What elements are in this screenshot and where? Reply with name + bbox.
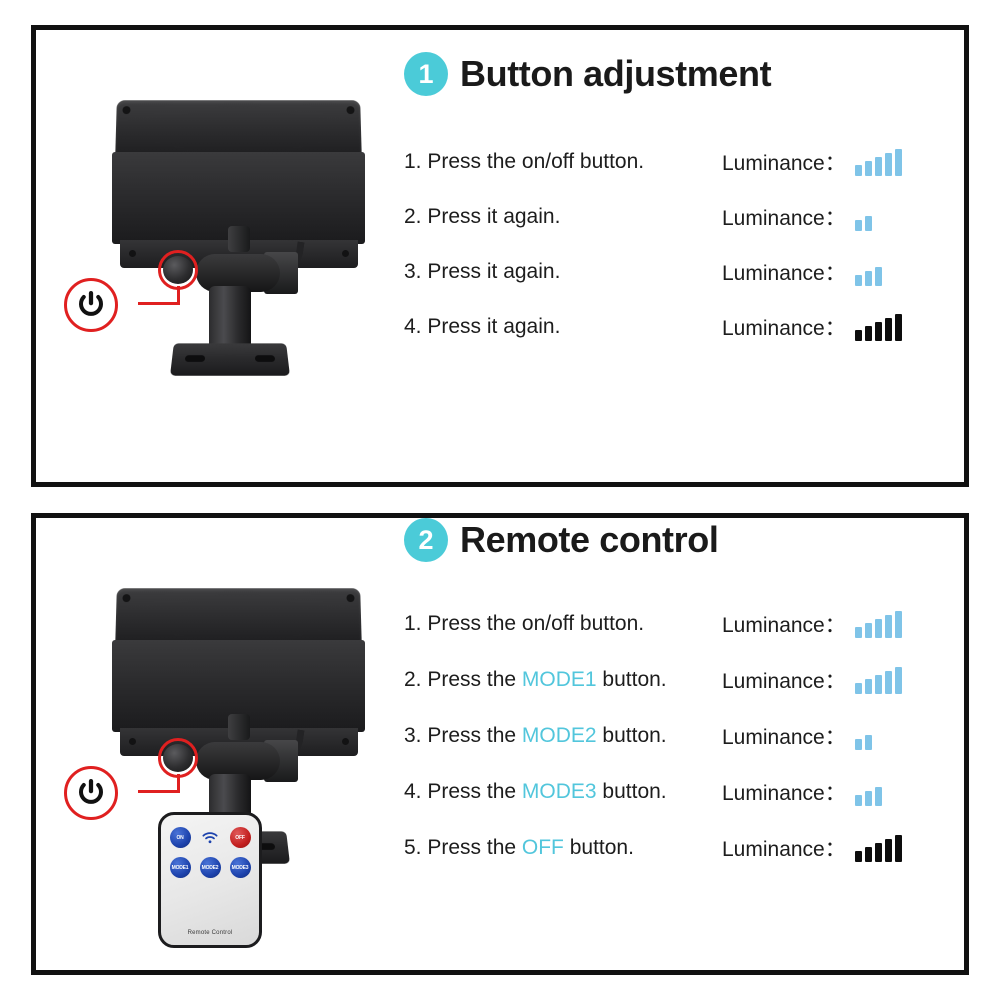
luminance-bar (885, 153, 892, 176)
mode-keyword: MODE1 (522, 668, 597, 691)
luminance-bar (855, 683, 862, 694)
section-2-title: Remote control (460, 519, 718, 561)
step-prefix: 3. Press the (404, 724, 522, 747)
section-1-badge: 1 (404, 52, 448, 96)
step-row: 4. Press it again.Luminance： (404, 299, 956, 354)
luminance-bar (875, 843, 882, 862)
luminance-label: Luminance： (722, 257, 846, 287)
step-text: 3. Press it again. (404, 260, 722, 284)
luminance-bar (875, 157, 882, 176)
section-1-heading: 1 Button adjustment (404, 52, 956, 96)
luminance-bar (895, 667, 902, 694)
mode-keyword: MODE3 (522, 780, 597, 803)
step-text: 1. Press the on/off button. (404, 150, 722, 174)
step-suffix: button. (597, 668, 667, 691)
mount-slot-right (255, 355, 275, 362)
luminance-bar (895, 149, 902, 176)
luminance-bars (855, 834, 902, 862)
power-icon (76, 778, 106, 808)
luminance-bar (895, 314, 902, 341)
luminance-bar (885, 615, 892, 638)
step-text: 5. Press the OFF button. (404, 836, 722, 860)
remote-button-on[interactable]: ON (170, 827, 191, 848)
luminance-bar (875, 787, 882, 806)
luminance-label: Luminance： (722, 147, 846, 177)
luminance-label: Luminance： (722, 833, 846, 863)
mounting-baseplate (170, 343, 290, 375)
mount-slot-left (185, 355, 205, 362)
section-2-heading: 2Remote control (404, 518, 956, 562)
luminance-bars (855, 722, 872, 750)
section-2-badge: 2 (404, 518, 448, 562)
luminance-bars (855, 258, 882, 286)
step-row: 1. Press the on/off button.Luminance： (404, 134, 956, 189)
section-1-steps: 1. Press the on/off button.Luminance：2. … (404, 134, 956, 354)
power-button-highlight-ring (158, 250, 198, 290)
section-1-title: Button adjustment (460, 53, 771, 95)
step-prefix: 4. Press the (404, 780, 522, 803)
luminance-bar (885, 671, 892, 694)
luminance-bar (855, 739, 862, 750)
luminance-bar (875, 619, 882, 638)
step-text: 2. Press the MODE1 button. (404, 668, 722, 692)
callout-leader-horizontal (138, 302, 180, 305)
step-text: 1. Press the on/off button. (404, 612, 722, 636)
luminance-bar (865, 679, 872, 694)
power-icon-callout (64, 278, 118, 332)
luminance-label: Luminance： (722, 609, 846, 639)
luminance-bar (855, 627, 862, 638)
luminance-bar (855, 795, 862, 806)
remote-wifi-icon[interactable] (200, 827, 221, 848)
step-row: 1. Press the on/off button.Luminance： (404, 596, 956, 652)
callout-leader-horizontal-2 (138, 790, 180, 793)
luminance-bar (875, 675, 882, 694)
cable-gland-2 (228, 714, 250, 740)
step-prefix: 5. Press the (404, 836, 522, 859)
luminance-label: Luminance： (722, 665, 846, 695)
luminance-bar (865, 326, 872, 341)
luminance-bar (865, 735, 872, 750)
luminance-bars (855, 610, 902, 638)
device-photo-1 (46, 40, 406, 470)
section-2-steps: 1. Press the on/off button.Luminance：2. … (404, 596, 956, 876)
instruction-sheet: 1 Button adjustment 1. Press the on/off … (0, 0, 1000, 1000)
step-text: 2. Press it again. (404, 205, 722, 229)
luminance-bar (875, 267, 882, 286)
luminance-bar (895, 611, 902, 638)
luminance-bar (865, 791, 872, 806)
luminance-bar (885, 839, 892, 862)
luminance-bar (865, 161, 872, 176)
luminance-bar (895, 835, 902, 862)
luminance-bars (855, 203, 872, 231)
remote-button-mode3[interactable]: MODE3 (230, 857, 251, 878)
step-row: 3. Press the MODE2 button.Luminance： (404, 708, 956, 764)
cable-gland (228, 226, 250, 252)
luminance-bars (855, 313, 902, 341)
remote-row-top: ONOFF (161, 827, 259, 848)
remote-button-mode1[interactable]: MODE1 (170, 857, 191, 878)
section-2-content: 2Remote control1. Press the on/off butto… (404, 518, 956, 876)
mode-keyword: MODE2 (522, 724, 597, 747)
step-suffix: button. (564, 836, 634, 859)
remote-button-mode2[interactable]: MODE2 (200, 857, 221, 878)
wifi-icon (202, 832, 218, 844)
step-row: 5. Press the OFF button.Luminance： (404, 820, 956, 876)
step-prefix: 2. Press the (404, 668, 522, 691)
luminance-label: Luminance： (722, 721, 846, 751)
luminance-bar (855, 165, 862, 176)
step-row: 4. Press the MODE3 button.Luminance： (404, 764, 956, 820)
luminance-bar (865, 623, 872, 638)
step-text: 4. Press it again. (404, 315, 722, 339)
luminance-bar (875, 322, 882, 341)
luminance-bars (855, 148, 902, 176)
power-icon (76, 290, 106, 320)
step-row: 2. Press the MODE1 button.Luminance： (404, 652, 956, 708)
step-suffix: button. (597, 780, 667, 803)
luminance-bar (855, 220, 862, 231)
luminance-label: Luminance： (722, 777, 846, 807)
step-row: 3. Press it again.Luminance： (404, 244, 956, 299)
panel-button-adjustment: 1 Button adjustment 1. Press the on/off … (31, 25, 969, 487)
lamp-solar-panel (115, 100, 362, 158)
luminance-bar (855, 275, 862, 286)
power-icon-callout-2 (64, 766, 118, 820)
luminance-bar (865, 216, 872, 231)
step-row: 2. Press it again.Luminance： (404, 189, 956, 244)
luminance-bar (865, 847, 872, 862)
luminance-bar (855, 330, 862, 341)
step-text: 4. Press the MODE3 button. (404, 780, 722, 804)
lamp-solar-panel-2 (115, 588, 362, 646)
remote-row-bottom: MODE1MODE2MODE3 (161, 857, 259, 878)
luminance-label: Luminance： (722, 312, 846, 342)
luminance-bars (855, 666, 902, 694)
mode-keyword: OFF (522, 836, 564, 859)
step-suffix: button. (597, 724, 667, 747)
luminance-bar (865, 271, 872, 286)
mounting-post (209, 286, 251, 348)
step-text: 3. Press the MODE2 button. (404, 724, 722, 748)
remote-button-off[interactable]: OFF (230, 827, 251, 848)
luminance-label: Luminance： (722, 202, 846, 232)
power-button-highlight-ring-2 (158, 738, 198, 778)
section-1-content: 1 Button adjustment 1. Press the on/off … (404, 52, 956, 354)
luminance-bar (885, 318, 892, 341)
luminance-bar (855, 851, 862, 862)
remote-control-label: Remote Control (161, 930, 259, 936)
luminance-bars (855, 778, 882, 806)
remote-control[interactable]: ONOFF MODE1MODE2MODE3 Remote Control (158, 812, 262, 948)
